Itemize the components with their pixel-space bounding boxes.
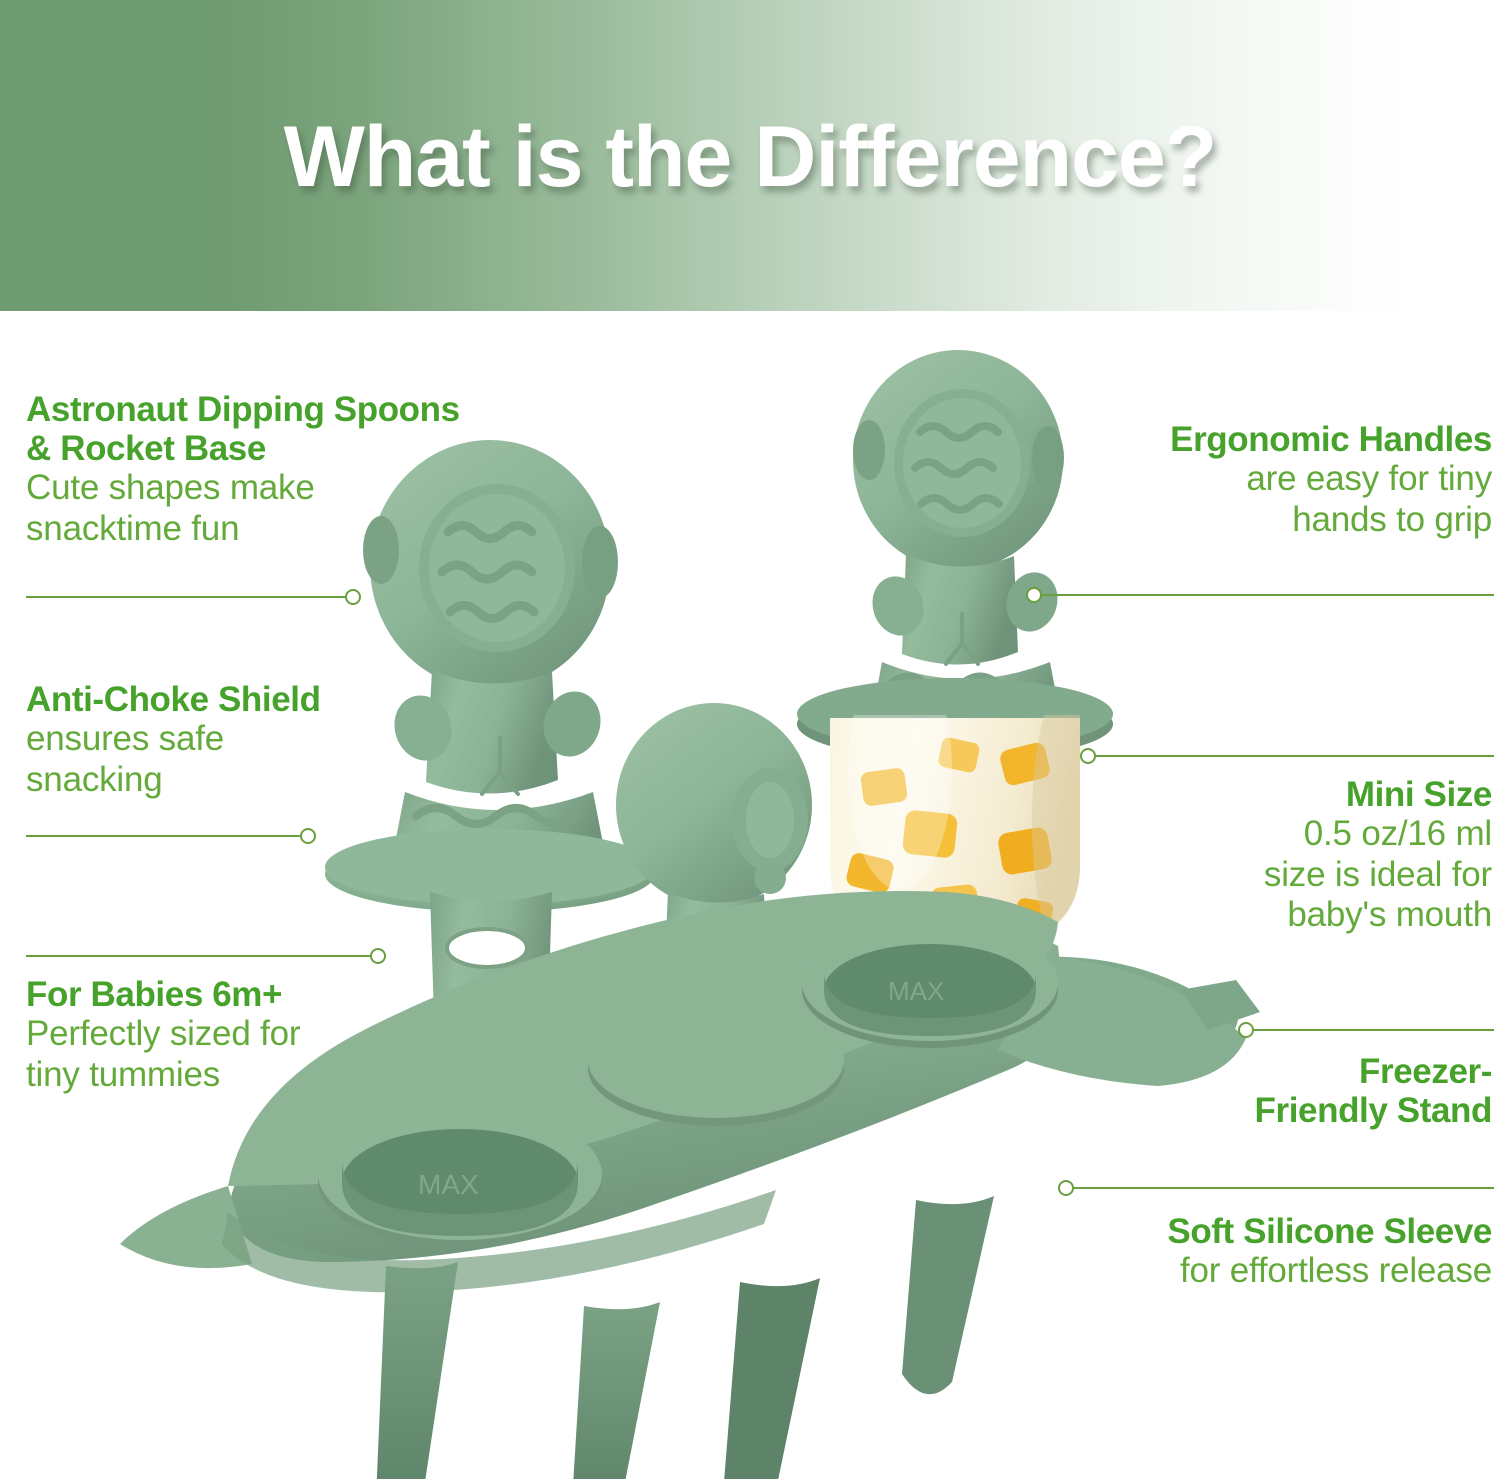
callout-body-line-2: hands to grip	[1012, 500, 1492, 541]
callout-title-line-2: Friendly Stand	[1022, 1091, 1492, 1130]
callout-body-line-2: tiny tummies	[26, 1055, 466, 1096]
connector-bar	[26, 596, 348, 598]
callout-title-line-1: Anti-Choke Shield	[26, 680, 456, 719]
connector-line-ergonomic-handles	[1026, 587, 1494, 603]
callout-title-line-1: Mini Size	[1022, 775, 1492, 814]
connector-line-freezer-friendly-stand	[1238, 1022, 1494, 1038]
callout-body-line-1: for effortless release	[1012, 1251, 1492, 1292]
connector-dot	[370, 948, 386, 964]
callout-body-line-1: 0.5 oz/16 ml	[1022, 814, 1492, 855]
callout-ergonomic-handles: Ergonomic Handles are easy for tiny hand…	[1012, 420, 1492, 540]
header-banner: What is the Difference?	[0, 0, 1500, 311]
connector-bar	[26, 835, 303, 837]
connector-line-mini-size	[1080, 748, 1494, 764]
callout-body-line-2: size is ideal for	[1022, 855, 1492, 896]
callout-body-line-1: ensures safe	[26, 719, 456, 760]
connector-bar	[1093, 755, 1494, 757]
callout-soft-silicone-sleeve: Soft Silicone Sleeve for effortless rele…	[1012, 1212, 1492, 1292]
callout-mini-size: Mini Size 0.5 oz/16 ml size is ideal for…	[1022, 775, 1492, 936]
connector-dot	[345, 589, 361, 605]
callout-body-line-2: snacktime fun	[26, 509, 556, 550]
callout-freezer-friendly-stand: Freezer- Friendly Stand	[1022, 1052, 1492, 1130]
callout-title-line-1: Astronaut Dipping Spoons	[26, 390, 556, 429]
connector-bar	[1039, 594, 1494, 596]
max-mark-right: MAX	[888, 976, 944, 1006]
connector-bar	[1251, 1029, 1494, 1031]
callout-anti-choke-shield: Anti-Choke Shield ensures safe snacking	[26, 680, 456, 800]
callout-title-line-1: Ergonomic Handles	[1012, 420, 1492, 459]
page-title: What is the Difference?	[0, 108, 1500, 207]
connector-bar	[1071, 1187, 1494, 1189]
callout-body-line-1: Perfectly sized for	[26, 1014, 466, 1055]
callout-body-line-1: are easy for tiny	[1012, 459, 1492, 500]
callout-title-line-1: For Babies 6m+	[26, 975, 466, 1014]
callout-body-line-2: snacking	[26, 760, 456, 801]
connector-dot	[1238, 1022, 1254, 1038]
connector-dot	[1026, 587, 1042, 603]
connector-dot	[300, 828, 316, 844]
callout-body-line-3: baby's mouth	[1022, 895, 1492, 936]
callout-body-line-1: Cute shapes make	[26, 468, 556, 509]
connector-line-soft-silicone-sleeve	[1058, 1180, 1494, 1196]
connector-bar	[26, 955, 373, 957]
connector-dot	[1080, 748, 1096, 764]
max-mark-left: MAX	[418, 1169, 479, 1200]
callout-title-line-1: Freezer-	[1022, 1052, 1492, 1091]
connector-line-for-babies-6m	[26, 948, 386, 964]
connector-line-astronaut-dipping-spoons	[26, 589, 361, 605]
connector-dot	[1058, 1180, 1074, 1196]
callout-title-line-2: & Rocket Base	[26, 429, 556, 468]
callout-astronaut-dipping-spoons: Astronaut Dipping Spoons & Rocket Base C…	[26, 390, 556, 550]
callout-title-line-1: Soft Silicone Sleeve	[1012, 1212, 1492, 1251]
callout-for-babies-6m: For Babies 6m+ Perfectly sized for tiny …	[26, 975, 466, 1095]
connector-line-anti-choke-shield	[26, 828, 316, 844]
